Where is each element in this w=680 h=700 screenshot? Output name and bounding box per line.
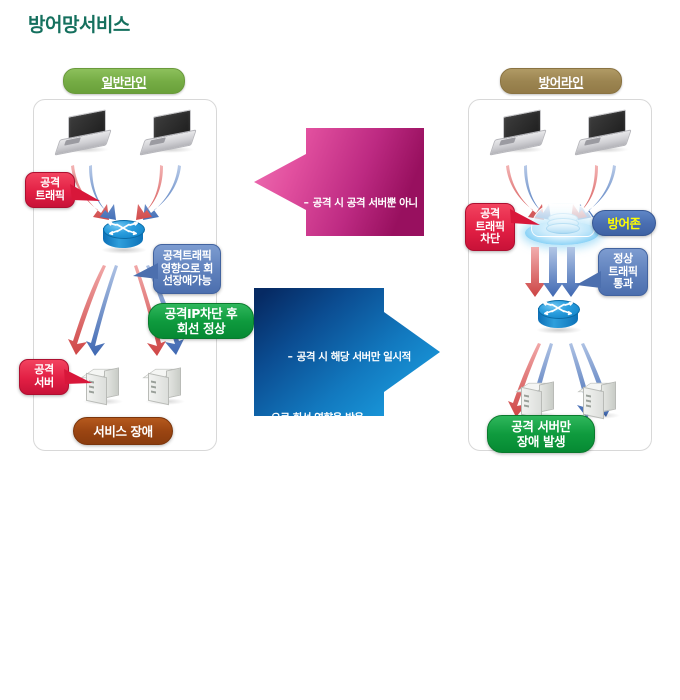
center-arrow-defense-bullet-1: –방어 가능한 트래픽 내에서는	[262, 456, 417, 502]
callout-attack-traffic-line-1: 트래픽	[35, 190, 64, 203]
callout-attack-traffic-blocked-tail	[510, 207, 542, 229]
callout-line-fault-warning-line-0: 공격트래픽	[163, 250, 212, 263]
center-arrow-defense-bullet-1-cont-1: IP차단이 안되기 때문에서	[262, 532, 417, 547]
status-pill-ip-block-normal-line-1: 회선 정상	[177, 321, 225, 336]
router-icon	[537, 300, 581, 334]
server-front	[583, 387, 604, 419]
center-arrow-normal-bullet-0: –공격 시 공격 서버뿐 아니	[278, 180, 418, 226]
callout-attack-traffic-tail	[70, 183, 102, 205]
callout-normal-traffic-pass: 정상 트래픽 통과	[598, 248, 648, 296]
callout-normal-traffic-pass-line-0: 정상	[613, 253, 632, 266]
server-icon	[580, 379, 618, 419]
bullet-text: 공격 시 공격 서버뿐 아니	[313, 197, 418, 209]
center-arrow-defense-bullet-0: –공격 시 해당 서버만 일시적	[262, 334, 417, 380]
diagram-canvas: 방어망서비스 일반라인 방어라인	[0, 0, 680, 490]
section-header-defense-line: 방어라인	[500, 68, 622, 94]
status-pill-service-failure-label: 서비스 장애	[93, 424, 152, 439]
callout-line-fault-warning: 공격트래픽 영향으로 회 선장애가능	[153, 244, 221, 294]
router-arrow-glyphs	[103, 220, 143, 237]
section-header-normal-line: 일반라인	[63, 68, 185, 94]
laptop-icon	[492, 113, 544, 153]
section-header-normal-line-label: 일반라인	[102, 72, 147, 91]
bullet-text: 공격 시 해당 서버만 일시적	[297, 351, 411, 363]
router-icon	[102, 220, 146, 254]
laptop-icon	[577, 113, 629, 153]
center-arrow-defense-bullet-1-cont-2: 서비스 가능	[262, 578, 417, 593]
status-pill-attack-server-only-fault: 공격 서버만 장애 발생	[487, 415, 595, 453]
callout-attack-server: 공격 서버	[19, 359, 69, 395]
section-header-defense-line-label: 방어라인	[539, 72, 584, 91]
center-arrow-defense-bullet-2: –국제망 장애 발생 미비	[262, 624, 417, 670]
bullet-marker: –	[288, 350, 297, 365]
status-pill-ip-block-normal: 공격IP차단 후 회선 정상	[148, 303, 254, 339]
laptop-icon	[142, 113, 194, 153]
bullet-marker: –	[304, 196, 313, 211]
bullet-text: 국제망 장애 발생 미비	[297, 640, 390, 652]
callout-attack-server-line-1: 서버	[34, 377, 53, 390]
callout-attack-traffic: 공격 트래픽	[25, 172, 75, 208]
server-icon	[145, 365, 183, 405]
bullet-marker: –	[288, 471, 297, 486]
callout-attack-traffic-blocked-line-2: 차단	[480, 233, 499, 246]
status-pill-defense-zone: 방어존	[592, 210, 656, 236]
callout-attack-server-tail	[64, 368, 94, 388]
router-arrow-glyphs	[538, 300, 578, 317]
status-pill-defense-zone-label: 방어존	[607, 216, 640, 231]
callout-attack-traffic-blocked-line-0: 공격	[480, 208, 499, 221]
center-arrow-normal-line: –공격 시 공격 서버뿐 아니 라 센터 내 다른 서버들도 공격에 영향을 받…	[254, 128, 424, 236]
callout-line-fault-warning-line-2: 선장애가능	[163, 275, 212, 288]
status-pill-ip-block-normal-line-0: 공격IP차단 후	[165, 306, 237, 321]
bullet-text: 방어 가능한 트래픽 내에서는	[297, 472, 417, 484]
server-icon	[518, 379, 556, 419]
callout-line-fault-warning-tail	[133, 262, 159, 282]
callout-normal-traffic-pass-line-2: 통과	[613, 278, 632, 291]
callout-normal-traffic-pass-tail	[576, 270, 602, 292]
status-pill-attack-server-only-fault-line-0: 공격 서버만	[511, 419, 570, 434]
center-arrow-normal-bullet-0-cont-1: 라 센터 내 다른 서버들도	[278, 257, 418, 272]
bullet-marker: –	[288, 639, 297, 654]
callout-attack-traffic-blocked: 공격 트래픽 차단	[465, 203, 515, 251]
status-pill-attack-server-only-fault-line-1: 장애 발생	[517, 434, 565, 449]
status-pill-service-failure: 서비스 장애	[73, 417, 173, 445]
server-front	[148, 373, 169, 405]
laptop-icon	[57, 113, 109, 153]
center-arrow-defense-line: –공격 시 해당 서버만 일시적 으로 회선 영향을 받음. –방어 가능한 트…	[254, 288, 440, 416]
page-title: 방어망서비스	[28, 10, 130, 37]
center-arrow-defense-bullet-0-cont-1: 으로 회선 영향을 받음.	[262, 411, 417, 426]
